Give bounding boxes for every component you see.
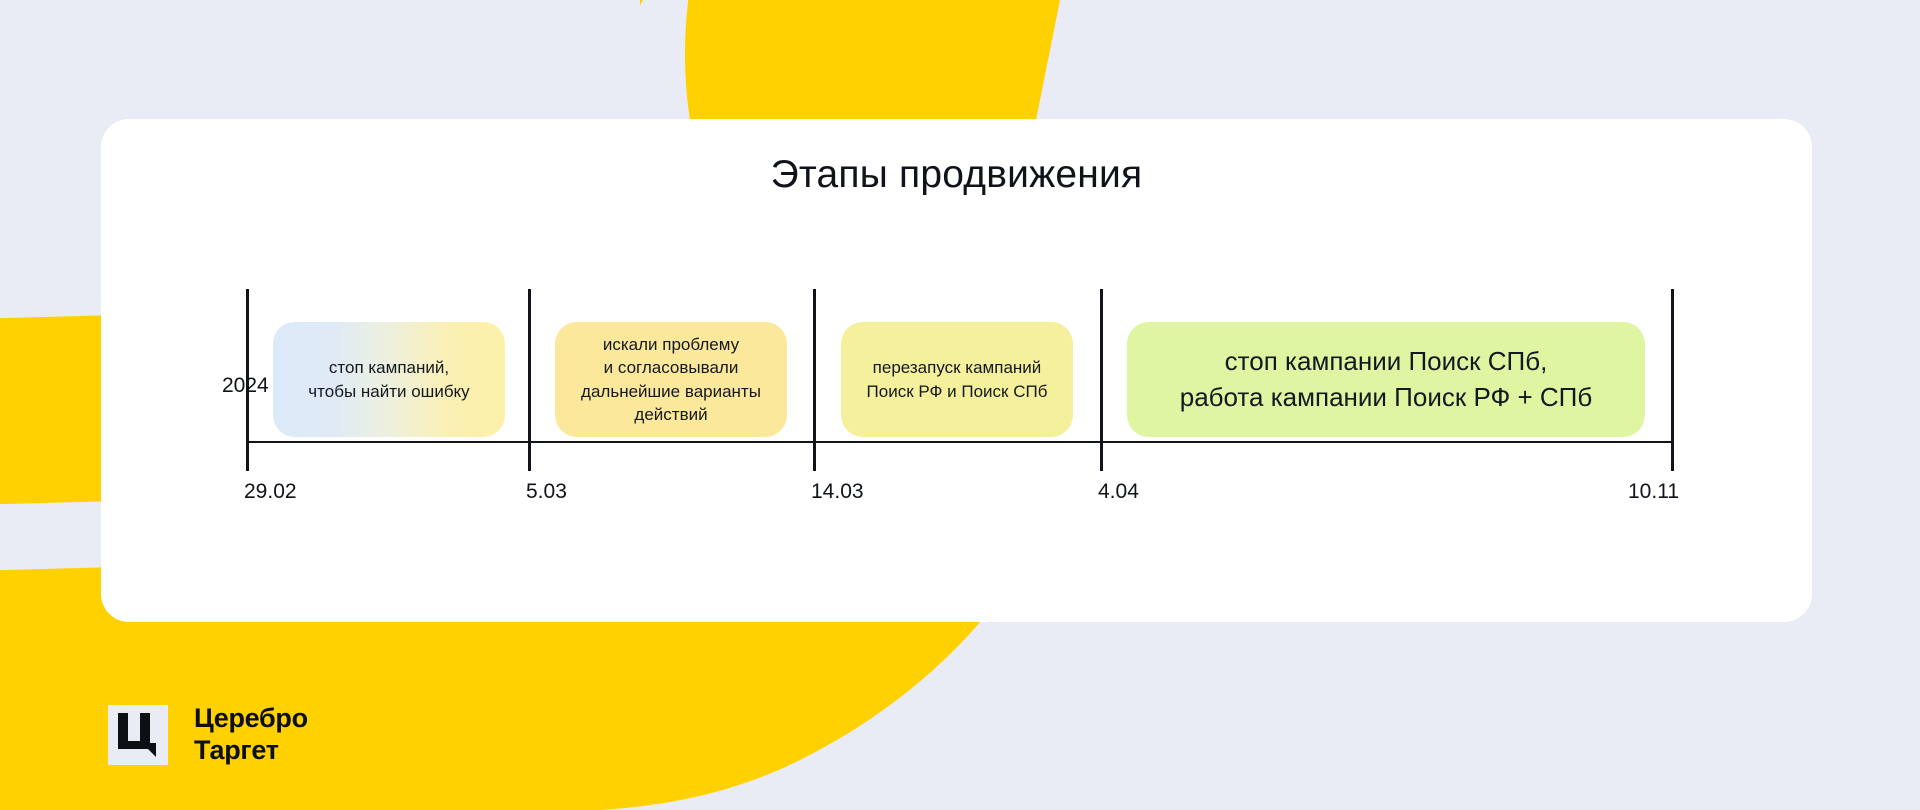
timeline-date-label-2: 14.03 <box>811 480 864 504</box>
content-card: Этапы продвижения 2024 29.02 5.03 14.03 … <box>101 119 1812 622</box>
timeline-tick-1 <box>528 289 531 471</box>
brand-logo-text: Церебро Таргет <box>194 703 308 767</box>
phase-label-1: искали проблему и согласовывали дальнейш… <box>581 333 761 427</box>
timeline-date-label-0: 29.02 <box>244 480 297 504</box>
timeline-phase-box-2: перезапуск кампаний Поиск РФ и Поиск СПб <box>841 322 1073 437</box>
phase-label-0: стоп кампаний, чтобы найти ошибку <box>308 356 469 403</box>
phase-label-3: стоп кампании Поиск СПб, работа кампании… <box>1180 344 1593 416</box>
timeline-tick-0 <box>246 289 249 471</box>
brand-logo: Церебро Таргет <box>100 697 308 773</box>
timeline-tick-4 <box>1671 289 1674 471</box>
phase-label-2: перезапуск кампаний Поиск РФ и Поиск СПб <box>867 356 1048 403</box>
timeline-date-label-1: 5.03 <box>526 480 567 504</box>
brand-logo-line-1: Церебро <box>194 703 308 735</box>
timeline-date-label-3: 4.04 <box>1098 480 1139 504</box>
timeline-date-label-4: 10.11 <box>1628 480 1679 504</box>
timeline-axis-line <box>246 441 1672 443</box>
timeline-chart: 2024 29.02 5.03 14.03 4.04 10.11 стоп ка… <box>101 119 1812 622</box>
cerebro-logo-icon <box>100 697 176 773</box>
timeline-phase-box-0: стоп кампаний, чтобы найти ошибку <box>273 322 505 437</box>
timeline-tick-3 <box>1100 289 1103 471</box>
brand-logo-line-2: Таргет <box>194 735 308 767</box>
timeline-phase-box-3: стоп кампании Поиск СПб, работа кампании… <box>1127 322 1645 437</box>
timeline-tick-2 <box>813 289 816 471</box>
timeline-phase-box-1: искали проблему и согласовывали дальнейш… <box>555 322 787 437</box>
